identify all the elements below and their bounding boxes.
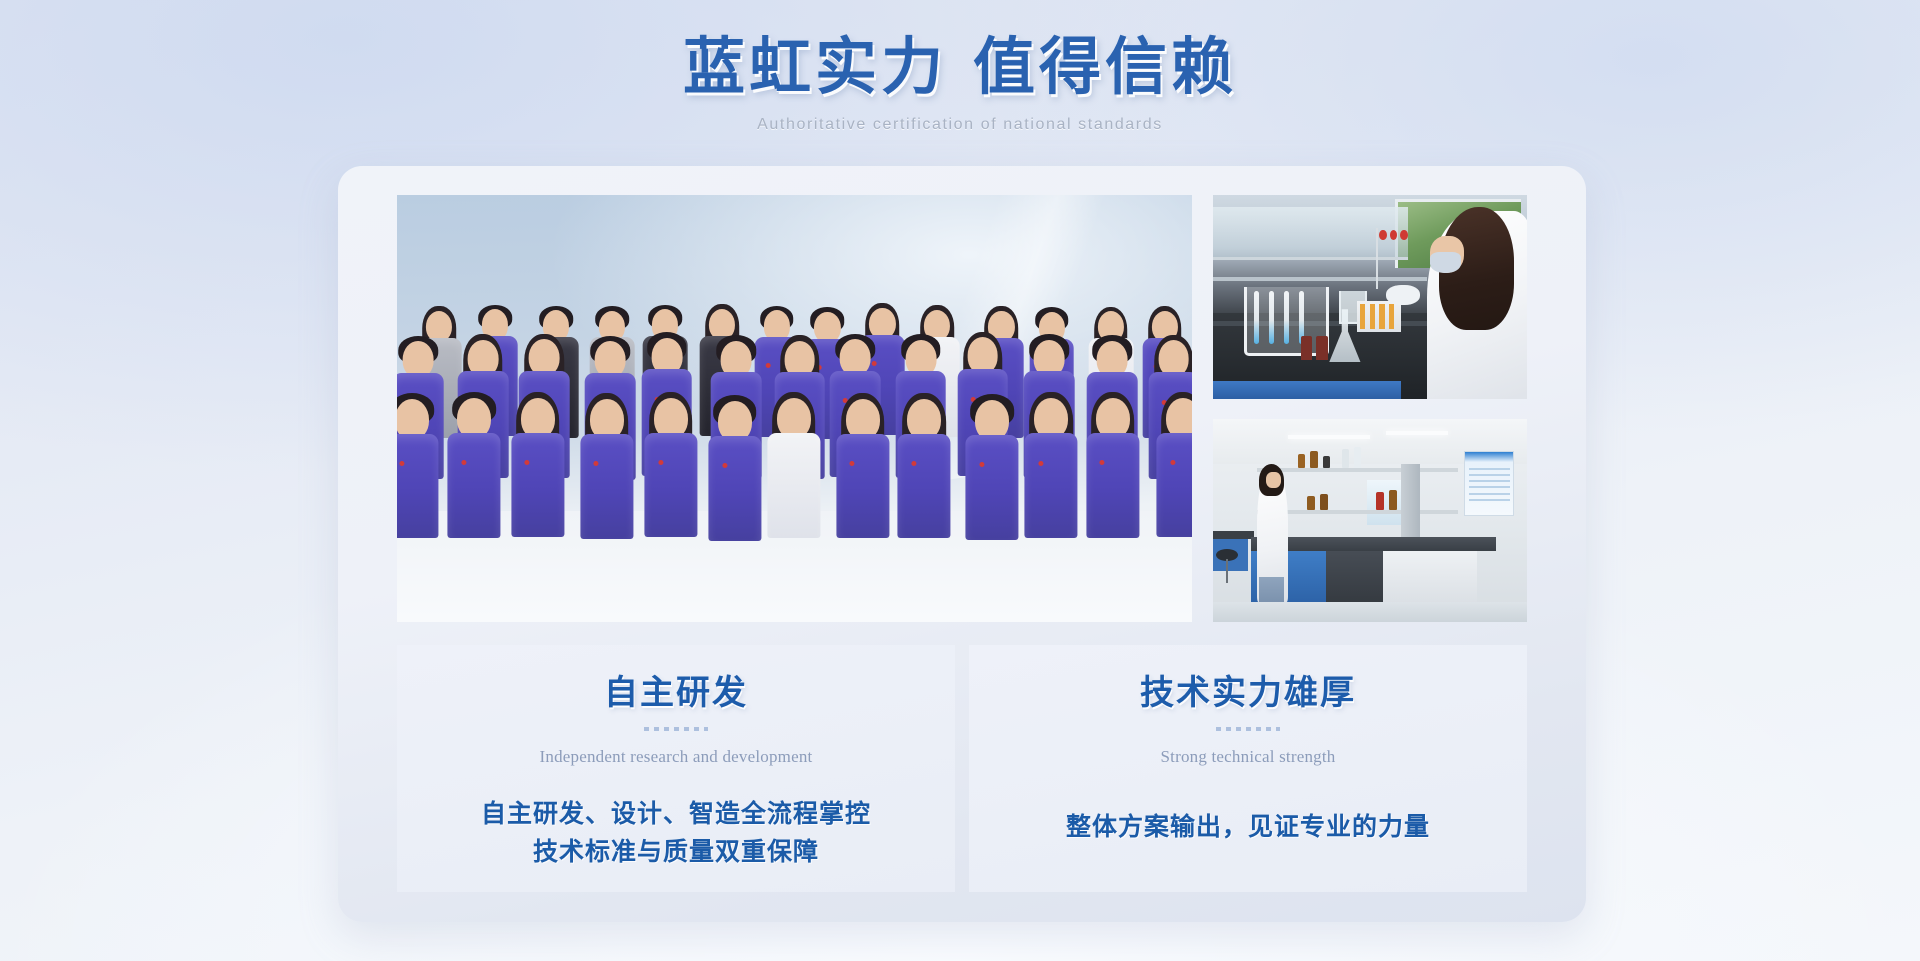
person-uniform <box>1025 433 1078 538</box>
uniform-logo <box>911 461 916 466</box>
feature-card-rnd-subtitle: Independent research and development <box>397 747 955 767</box>
group-photo-person <box>895 392 954 541</box>
lab-b-floor <box>1213 602 1527 622</box>
uniform-logo <box>1038 461 1043 466</box>
group-photo-person <box>705 394 764 543</box>
person-uniform <box>708 436 761 541</box>
lab-a-technician-mask <box>1430 252 1461 272</box>
page-title-part2: 值得信赖 <box>973 34 1237 102</box>
uniform-logo <box>594 461 599 466</box>
content-panel: 自主研发 Independent research and developmen… <box>338 166 1586 922</box>
lab-a-blue-cabinet <box>1213 381 1401 399</box>
person-uniform <box>580 434 633 539</box>
feature-card-tech-description: 整体方案输出，见证专业的力量 <box>969 809 1527 848</box>
uniform-logo <box>658 460 663 465</box>
lab-b-upper-shelf <box>1257 468 1458 472</box>
uniform-logo <box>979 462 984 467</box>
lab-b-bottle-8 <box>1376 492 1384 510</box>
feature-card-rnd-desc-line-2: 技术标准与质量双重保障 <box>397 834 955 873</box>
group-photo-person <box>444 391 503 540</box>
uniform-logo <box>1100 460 1105 465</box>
lab-b-technician-face <box>1266 472 1280 488</box>
lab-room-photo[interactable] <box>1213 419 1527 622</box>
feature-card-tech-subtitle: Strong technical strength <box>969 747 1527 767</box>
person-uniform <box>966 435 1019 540</box>
page-header: 蓝虹实力值得信赖 Authoritative certification of … <box>0 30 1920 134</box>
feature-card-tech-desc-line-1: 整体方案输出，见证专业的力量 <box>969 809 1527 848</box>
person-uniform <box>1086 433 1139 538</box>
dashed-separator-icon <box>1216 727 1280 731</box>
photo-gallery <box>397 195 1527 622</box>
group-photo-person <box>764 391 823 540</box>
person-uniform <box>447 433 500 538</box>
lab-a-reagent-bottles <box>1301 336 1329 360</box>
feature-card-rnd-desc-line-1: 自主研发、设计、智造全流程掌控 <box>397 796 955 835</box>
lab-a-sample-vial-box <box>1357 301 1401 332</box>
lab-b-bottle-9 <box>1389 490 1397 510</box>
lab-b-white-cabinet <box>1383 551 1477 606</box>
lab-b-ceiling-light-2 <box>1386 431 1449 435</box>
uniform-logo <box>766 363 771 368</box>
uniform-logo <box>722 463 727 468</box>
feature-card-rnd[interactable]: 自主研发 Independent research and developmen… <box>397 645 955 892</box>
uniform-logo <box>525 460 530 465</box>
lab-b-bottle-6 <box>1307 496 1315 510</box>
lab-a-technician-glove <box>1386 285 1421 305</box>
lab-b-stool-leg <box>1226 559 1228 583</box>
lab-b-bottle-1 <box>1298 454 1306 468</box>
uniform-logo <box>399 461 404 466</box>
lab-pipetting-photo[interactable] <box>1213 195 1527 399</box>
person-uniform <box>644 433 697 538</box>
group-photo-person <box>641 391 700 540</box>
feature-card-rnd-title: 自主研发 <box>397 673 955 716</box>
feature-card-rnd-description: 自主研发、设计、智造全流程掌控 技术标准与质量双重保障 <box>397 796 955 874</box>
feature-card-tech-title: 技术实力雄厚 <box>969 673 1527 716</box>
lab-b-bottle-3 <box>1323 456 1330 468</box>
person-uniform <box>836 434 889 539</box>
page-subtitle: Authoritative certification of national … <box>0 116 1920 134</box>
feature-card-tech[interactable]: 技术实力雄厚 Strong technical strength 整体方案输出，… <box>969 645 1527 892</box>
group-photo-person <box>1022 391 1081 540</box>
lab-b-bottle-5 <box>1354 447 1361 467</box>
page-title: 蓝虹实力值得信赖 <box>0 30 1920 108</box>
feature-card-list: 自主研发 Independent research and developmen… <box>397 645 1527 892</box>
group-photo-person <box>1153 391 1192 540</box>
person-uniform <box>397 434 439 539</box>
group-photo-person <box>508 391 567 540</box>
person-uniform <box>511 433 564 538</box>
uniform-logo <box>1170 460 1175 465</box>
lab-a-rail <box>1213 277 1427 281</box>
page-title-part1: 蓝虹实力 <box>683 34 947 102</box>
group-photo-person <box>963 393 1022 542</box>
person-uniform <box>897 434 950 539</box>
group-photo-person <box>833 392 892 541</box>
lab-b-bottle-4 <box>1342 449 1349 467</box>
person-uniform <box>1156 433 1192 538</box>
dashed-separator-icon <box>644 727 708 731</box>
person-uniform <box>767 433 820 538</box>
uniform-logo <box>850 461 855 466</box>
page-stage: 蓝虹实力值得信赖 Authoritative certification of … <box>0 0 1920 961</box>
lab-a-clamp-set <box>1379 230 1407 240</box>
uniform-logo <box>461 460 466 465</box>
group-photo-person <box>1083 391 1142 540</box>
lab-b-safety-poster <box>1464 451 1514 516</box>
lab-b-bottle-7 <box>1320 494 1328 510</box>
group-photo-people <box>397 195 1192 622</box>
group-photo-person <box>397 392 441 541</box>
company-group-photo[interactable] <box>397 195 1192 622</box>
group-photo-person <box>577 392 636 541</box>
side-photo-column <box>1213 195 1527 622</box>
lab-b-ceiling-light-1 <box>1288 435 1370 439</box>
lab-b-bottle-2 <box>1310 451 1318 467</box>
lab-a-retort-stand <box>1376 228 1378 289</box>
lab-b-side-bench <box>1213 531 1254 539</box>
